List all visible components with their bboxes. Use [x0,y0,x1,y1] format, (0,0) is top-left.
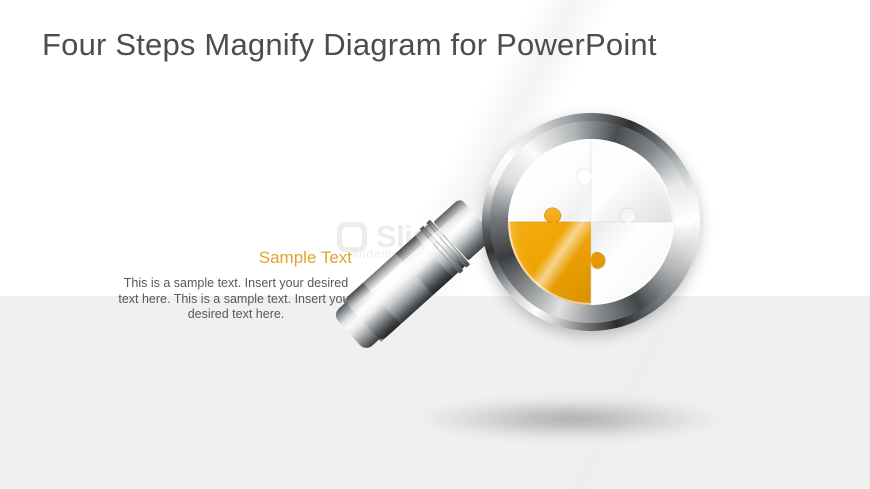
magnifier-handle[interactable] [330,205,486,354]
puzzle-group [508,139,674,305]
magnify-diagram [0,0,870,489]
magnifier-lens[interactable] [482,113,700,331]
lens-glass [508,139,674,305]
slide-canvas: Four Steps Magnify Diagram for PowerPoin… [0,0,870,489]
diagram-drop-shadow [420,398,720,440]
